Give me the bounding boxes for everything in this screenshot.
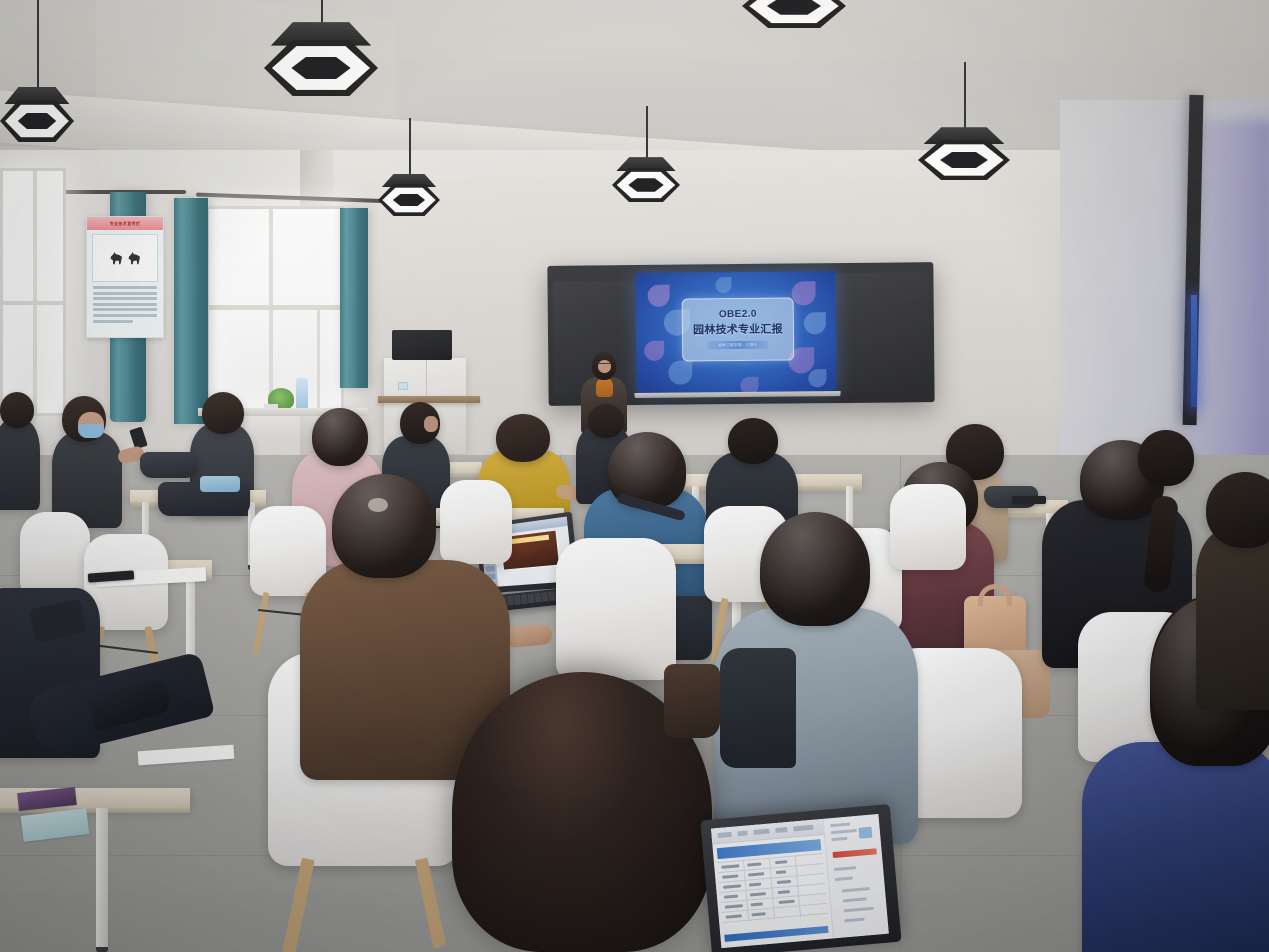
slide-caption	[507, 535, 549, 545]
desk-bag	[140, 452, 198, 478]
spreadsheet-pane[interactable]	[711, 819, 833, 948]
podium-monitor[interactable]	[392, 330, 452, 360]
chart-icon[interactable]	[858, 827, 872, 839]
slide-title-en: OBE2.0	[719, 309, 757, 320]
presentation-screen[interactable]: OBE2.0 园林技术专业汇报 园林工程学院 · 汇报人	[635, 271, 836, 395]
slide-canvas[interactable]	[492, 516, 573, 586]
classroom-photo: 专业技术宣传栏 OBE2.0 园林技术专业汇报	[0, 0, 1269, 952]
laptop-screen[interactable]	[711, 814, 889, 948]
highlight-text	[833, 848, 877, 858]
phone	[1012, 496, 1046, 504]
poster-heading: 专业技术宣传栏	[87, 217, 163, 230]
status-bar[interactable]	[724, 926, 828, 942]
display-right-panel	[833, 272, 929, 393]
display-left-panel	[552, 281, 643, 394]
display-bottom-bar	[635, 391, 841, 398]
handbag-body	[980, 650, 1050, 718]
slide-subtitle: 园林工程学院 · 汇报人	[708, 341, 767, 350]
window-far-left	[0, 168, 66, 416]
podium-cabinet	[384, 358, 466, 454]
desk	[606, 544, 752, 559]
podium-seam	[426, 358, 427, 450]
horse-icon	[128, 252, 141, 265]
wall-socket[interactable]	[398, 382, 408, 390]
desk	[386, 462, 482, 473]
wall-poster: 专业技术宣传栏	[86, 216, 164, 338]
poster-body-text	[87, 286, 163, 323]
desk-item	[200, 476, 240, 492]
slide-title-cn: 园林技术专业汇报	[693, 321, 783, 338]
water-bottle	[296, 378, 308, 412]
slide-title-card: OBE2.0 园林技术专业汇报 园林工程学院 · 汇报人	[682, 297, 795, 362]
laptop-screen[interactable]	[480, 516, 574, 587]
current-slide	[500, 530, 560, 571]
data-table[interactable]	[717, 853, 828, 924]
laptop-lid	[475, 512, 580, 594]
curtain-left-b	[174, 198, 208, 424]
podium-shelf	[378, 396, 480, 403]
side-display-glow	[1191, 295, 1197, 407]
interactive-display[interactable]: OBE2.0 园林技术专业汇报 园林工程学院 · 汇报人	[547, 262, 934, 406]
foreground-laptop[interactable]	[700, 804, 901, 952]
side-pane[interactable]	[823, 814, 889, 938]
poster-image	[92, 234, 158, 282]
floor	[0, 455, 1269, 952]
curtain-left-c	[340, 208, 368, 388]
boot	[664, 664, 720, 738]
horse-icon	[110, 252, 123, 265]
windowsill	[198, 408, 368, 416]
desk	[676, 474, 862, 486]
window-left-main	[206, 206, 344, 412]
attendee-laptop[interactable]	[463, 514, 581, 625]
